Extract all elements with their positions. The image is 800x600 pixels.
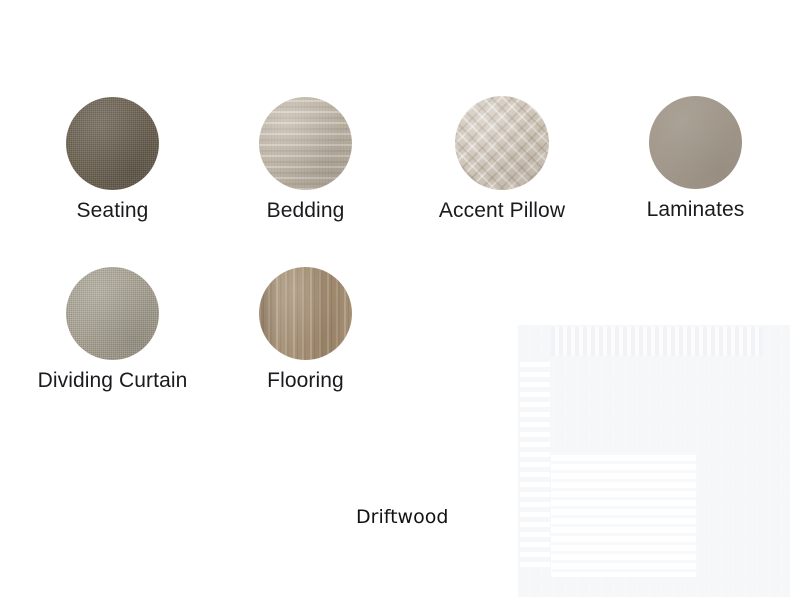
swatch-disc-laminates[interactable] [649,96,742,189]
swatch-texture-accent-pillow [455,96,549,190]
swatch-disc-accent-pillow[interactable] [455,96,549,190]
swatch-label-laminates: Laminates [609,198,782,222]
ghost-spreadsheet-row-labels [520,357,550,567]
swatch-disc-bedding[interactable] [259,97,352,190]
swatch-label-dividing-curtain: Dividing Curtain [26,369,199,393]
swatch-label-bedding: Bedding [219,199,392,223]
swatch-texture-bedding [259,97,352,190]
swatch-texture-laminates [649,96,742,189]
swatch-texture-seating [66,97,159,190]
swatch-label-seating: Seating [26,199,199,223]
swatch-texture-flooring [259,267,352,360]
swatch-texture-dividing-curtain [66,267,159,360]
palette-title: Driftwood [356,506,448,528]
ghost-spreadsheet-text-block [551,452,696,577]
swatch-dividing-curtain[interactable]: Dividing Curtain [26,267,199,393]
ghost-spreadsheet-header [551,327,763,356]
swatch-label-accent-pillow: Accent Pillow [415,199,589,223]
swatch-laminates[interactable]: Laminates [609,96,782,222]
swatch-bedding[interactable]: Bedding [219,97,392,223]
ghost-spreadsheet-grid [518,325,790,597]
swatch-seating[interactable]: Seating [26,97,199,223]
swatch-disc-seating[interactable] [66,97,159,190]
swatch-label-flooring: Flooring [219,369,392,393]
material-palette-board: SeatingBeddingAccent PillowLaminatesDivi… [0,0,800,600]
swatch-disc-flooring[interactable] [259,267,352,360]
swatch-disc-dividing-curtain[interactable] [66,267,159,360]
swatch-flooring[interactable]: Flooring [219,267,392,393]
swatch-accent-pillow[interactable]: Accent Pillow [415,96,589,223]
